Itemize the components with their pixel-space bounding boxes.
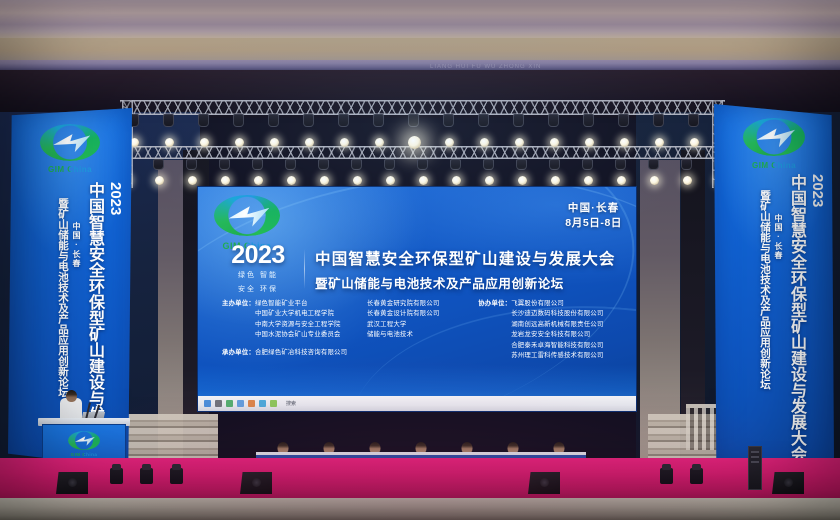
stage-lamp <box>287 176 296 185</box>
stage-light-fixture <box>583 114 594 127</box>
stage-lamp <box>386 176 395 185</box>
stage-photo-scene: LIANG HUI FU WU ZHONG XIN GIM China 2023… <box>0 0 840 520</box>
gim-china-logo: GIM China <box>743 118 805 170</box>
organizer-column-left: 主办单位： 绿色智能矿业平台长春黄金研究院有限公司中国矿业大学机电工程学院长春黄… <box>222 299 464 361</box>
screen-date: 8月5日-8日 <box>565 216 622 231</box>
stage-light-fixture <box>653 114 664 127</box>
host-name-left: 中国水泥协会矿山专业委员会 <box>255 330 359 340</box>
banner-right-title-main: 中国智慧安全环保型矿山建设与发展大会 <box>784 174 808 462</box>
host-name-right: 长春黄金研究院有限公司 <box>367 299 464 309</box>
stage-lamp <box>445 138 454 147</box>
coorganizer-name-list: 飞翼股份有限公司长沙迪迈数码科技股份有限公司湖南创远高新机械有限责任公司龙岩龙安… <box>511 299 626 361</box>
stage-lamp <box>165 138 174 147</box>
stage-lamp <box>650 176 659 185</box>
stage-light-fixture <box>548 114 559 127</box>
banner-left-location: 中国·长春 <box>71 222 82 268</box>
stage-floor <box>0 458 840 500</box>
screen-slogan-line-1: 绿色 智能 <box>222 271 294 282</box>
stage-light-fixture <box>408 114 419 127</box>
coorganizer-entry: 合肥泰禾卓海智能科技有限公司 <box>511 341 626 351</box>
title-divider <box>304 249 305 289</box>
windows-taskbar[interactable]: 搜索 <box>198 396 636 411</box>
stage-lamp <box>452 176 461 185</box>
monitor-speaker <box>56 472 88 494</box>
stage-light-fixture <box>516 159 527 170</box>
screen-title-row: 2023 绿色 智能 安全 环保 中国智慧安全环保型矿山建设与发展大会 暨矿山储… <box>222 243 634 295</box>
host-entry: 中南大学资源与安全工程学院武汉工程大学 <box>255 320 464 330</box>
stage-lamp <box>518 176 527 185</box>
stage-lamp <box>585 138 594 147</box>
main-led-screen: GIM China 中国·长春 8月5日-8日 2023 绿色 智能 安全 环保… <box>197 186 637 412</box>
logo-wordmark: GIM China <box>68 452 100 457</box>
undertaker-name: 合肥绿色矿冶科技咨询有限公司 <box>255 348 464 358</box>
hall-ceiling <box>0 0 840 72</box>
coorganizer-entry: 湖南创远高新机械有限责任公司 <box>511 320 626 330</box>
host-name-right: 储能与电池技术 <box>367 330 464 340</box>
undertaker-label: 承办单位： <box>222 348 255 358</box>
taskbar-app-icon[interactable] <box>237 400 244 407</box>
host-name-left: 绿色智能矿业平台 <box>255 299 359 309</box>
stage-light-fixture <box>478 114 489 127</box>
coorganizer-entry: 长沙迪迈数码科技股份有限公司 <box>511 309 626 319</box>
moving-head-light <box>110 468 123 484</box>
stage-light-fixture <box>443 114 454 127</box>
stage-light-fixture <box>615 159 626 170</box>
stage-lamp <box>305 138 314 147</box>
stage-lamp <box>320 176 329 185</box>
taskbar-app-icon[interactable] <box>226 400 233 407</box>
stage-lamp <box>419 176 428 185</box>
screen-year-block: 2023 绿色 智能 安全 环保 <box>222 243 294 295</box>
moving-head-light <box>690 468 703 484</box>
stage-light-fixture <box>318 159 329 170</box>
stage-lamp <box>353 176 362 185</box>
taskbar-app-icon[interactable] <box>259 400 266 407</box>
host-label: 主办单位： <box>222 299 255 341</box>
stage-light-fixture <box>384 159 395 170</box>
stage-lamp <box>485 176 494 185</box>
coorganizer-row: 协办单位： 飞翼股份有限公司长沙迪迈数码科技股份有限公司湖南创远高新机械有限责任… <box>478 299 626 361</box>
stage-lamp <box>200 138 209 147</box>
stage-lamp <box>550 138 559 147</box>
stage-lamp <box>375 138 384 147</box>
stage-lamp <box>221 176 230 185</box>
vertical-banner-right: GIM China 2023 中国智慧安全环保型矿山建设与发展大会 中国·长春 … <box>714 104 834 474</box>
host-entry: 绿色智能矿业平台长春黄金研究院有限公司 <box>255 299 464 309</box>
host-name-right: 长春黄金设计院有限公司 <box>367 309 464 319</box>
stage-lamp <box>551 176 560 185</box>
stage-light-fixture <box>163 114 174 127</box>
monitor-speaker <box>772 472 804 494</box>
stage-light-fixture <box>252 159 263 170</box>
moving-head-light <box>170 468 183 484</box>
stage-lamp <box>155 176 164 185</box>
undertaker-row: 承办单位： 合肥绿色矿冶科技咨询有限公司 <box>222 348 464 358</box>
stage-light-fixture <box>450 159 461 170</box>
stage-light-fixture <box>351 159 362 170</box>
stage-lamp <box>617 176 626 185</box>
ceiling-beam <box>0 38 840 60</box>
host-name-left: 中国矿业大学机电工程学院 <box>255 309 359 319</box>
lighting-truss-top <box>120 100 725 115</box>
screen-year: 2023 <box>222 243 294 268</box>
screen-location: 中国·长春 <box>565 201 622 216</box>
screen-location-date: 中国·长春 8月5日-8日 <box>565 201 622 231</box>
taskbar-app-icon[interactable] <box>270 400 277 407</box>
stage-light-fixture <box>303 114 314 127</box>
stage-light-fixture <box>373 114 384 127</box>
banner-left-year: 2023 <box>107 182 124 215</box>
coorganizer-entry: 苏州理工雷科传感技术有限公司 <box>511 351 626 361</box>
stage-apron <box>0 498 840 520</box>
lighting-truss-mid <box>110 146 735 159</box>
host-entry: 中国矿业大学机电工程学院长春黄金设计院有限公司 <box>255 309 464 319</box>
moving-head-light <box>140 468 153 484</box>
coorganizer-entry: 飞翼股份有限公司 <box>511 299 626 309</box>
stage-light-fixture <box>338 114 349 127</box>
stage-lamp <box>620 138 629 147</box>
stage-light-fixture <box>681 159 692 170</box>
moving-head-light <box>660 468 673 484</box>
stage-lamp <box>584 176 593 185</box>
banner-left-title-sub: 暨矿山储能与电池技术及产品应用创新论坛 <box>56 198 71 398</box>
gim-china-logo: GIM China <box>68 431 100 457</box>
logo-wordmark: GIM China <box>40 165 100 174</box>
host-entry: 中国水泥协会矿山专业委员会储能与电池技术 <box>255 330 464 340</box>
host-name-left: 中南大学资源与安全工程学院 <box>255 320 359 330</box>
stage-lamp <box>683 176 692 185</box>
taskbar-app-icon[interactable] <box>248 400 255 407</box>
screen-organizers: 主办单位： 绿色智能矿业平台长春黄金研究院有限公司中国矿业大学机电工程学院长春黄… <box>222 299 626 361</box>
stage-lamp <box>254 176 263 185</box>
speaker-head <box>66 390 77 402</box>
stage-light-fixture <box>219 159 230 170</box>
stage-light-fixture <box>198 114 209 127</box>
banner-right-title-sub: 暨矿山储能与电池技术及产品应用创新论坛 <box>758 190 773 390</box>
taskbar-app-icon[interactable] <box>204 400 211 407</box>
stage-lamp <box>188 176 197 185</box>
stage-lamp <box>408 136 421 149</box>
banner-right-text: 2023 中国智慧安全环保型矿山建设与发展大会 中国·长春 暨矿山储能与电池技术… <box>724 174 826 460</box>
stage-light-fixture <box>268 114 279 127</box>
screen-title-sub: 暨矿山储能与电池技术及产品应用创新论坛 <box>315 273 634 292</box>
organizer-column-right: 协办单位： 飞翼股份有限公司长沙迪迈数码科技股份有限公司湖南创远高新机械有限责任… <box>478 299 626 361</box>
host-name-list: 绿色智能矿业平台长春黄金研究院有限公司中国矿业大学机电工程学院长春黄金设计院有限… <box>255 299 464 341</box>
stage-light-fixture <box>153 159 164 170</box>
light-tower <box>748 446 762 490</box>
logo-wordmark: GIM China <box>743 161 805 170</box>
stage-light-fixture <box>582 159 593 170</box>
stage-light-fixture <box>618 114 629 127</box>
stage-light-fixture <box>483 159 494 170</box>
host-row: 主办单位： 绿色智能矿业平台长春黄金研究院有限公司中国矿业大学机电工程学院长春黄… <box>222 299 464 341</box>
screen-title-main: 中国智慧安全环保型矿山建设与发展大会 <box>315 247 634 269</box>
banner-right-year: 2023 <box>809 174 826 207</box>
coorganizer-label: 协办单位： <box>478 299 511 361</box>
stage-lamp <box>515 138 524 147</box>
stage-lamp <box>340 138 349 147</box>
monitor-speaker <box>240 472 272 494</box>
host-name-right: 武汉工程大学 <box>367 320 464 330</box>
stage-light-fixture <box>549 159 560 170</box>
stage-light-fixture <box>513 114 524 127</box>
monitor-speaker <box>528 472 560 494</box>
stage-light-fixture <box>648 159 659 170</box>
stage-light-fixture <box>285 159 296 170</box>
stage-light-fixture <box>233 114 244 127</box>
stage-light-fixture <box>417 159 428 170</box>
taskbar-app-icon[interactable] <box>215 400 222 407</box>
stage-lamp <box>270 138 279 147</box>
banner-right-location: 中国·长春 <box>773 214 784 260</box>
gim-china-logo: GIM China <box>40 124 100 174</box>
taskbar-search-label[interactable]: 搜索 <box>286 400 296 407</box>
stage-lamp <box>690 138 699 147</box>
screen-slogan-line-2: 安全 环保 <box>222 285 294 296</box>
stage-light-fixture <box>186 159 197 170</box>
stage-lamp <box>655 138 664 147</box>
taskbar-icon-group[interactable] <box>204 400 277 407</box>
screen-titles: 中国智慧安全环保型矿山建设与发展大会 暨矿山储能与电池技术及产品应用创新论坛 <box>315 247 634 292</box>
stage-light-fixture <box>688 114 699 127</box>
coorganizer-entry: 龙岩龙安安全科技有限公司 <box>511 330 626 340</box>
stage-lamp <box>480 138 489 147</box>
stage-lamp <box>235 138 244 147</box>
